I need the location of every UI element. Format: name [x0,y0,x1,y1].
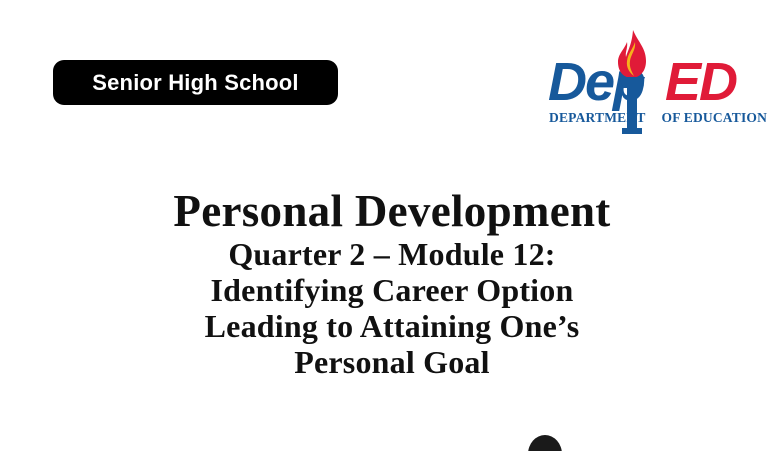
cover-subtitle-line-1: Quarter 2 – Module 12: [0,236,784,272]
deped-tagline-right: OF EDUCATION [662,110,768,126]
deped-wordmark-ed: ED [665,52,736,112]
cover-subtitle-line-4: Personal Goal [0,344,784,380]
bottom-illustration-shape [528,435,562,451]
senior-high-school-badge: Senior High School [53,60,338,105]
cover-subtitle-line-3: Leading to Attaining One’s [0,308,784,344]
senior-high-school-badge-label: Senior High School [92,70,299,96]
bottom-illustration-clipped [528,433,568,451]
deped-tagline-left: DEPARTMENT [549,110,646,126]
deped-tagline: DEPARTMENTOF EDUCATION [549,110,745,126]
deped-logo: DepED DEPARTMENTOF EDUCATION [548,28,744,136]
cover-title-block: Personal Development Quarter 2 – Module … [0,186,784,380]
page-title: Personal Development [0,186,784,236]
cover-subtitle-line-2: Identifying Career Option [0,272,784,308]
cover-subtitle: Quarter 2 – Module 12: Identifying Caree… [0,236,784,380]
